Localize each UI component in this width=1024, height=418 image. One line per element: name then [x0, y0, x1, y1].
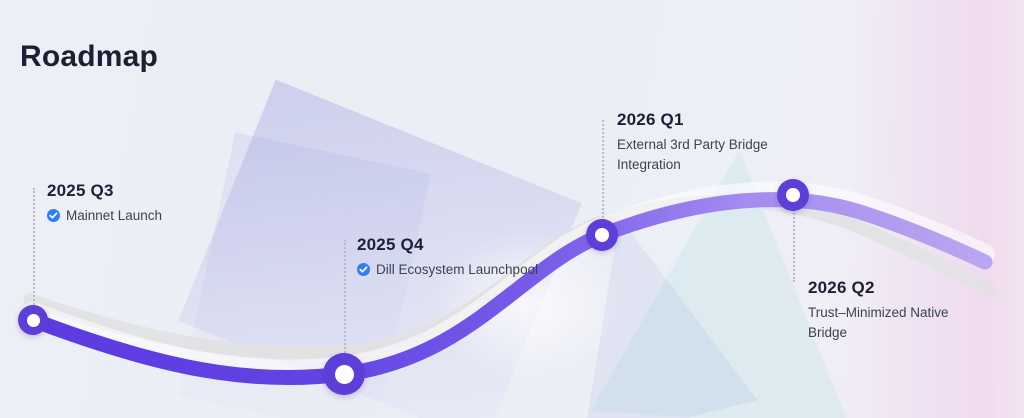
milestone-node-2026-q2[interactable] — [777, 179, 809, 211]
milestone-description: External 3rd Party Bridge Integration — [617, 135, 792, 174]
milestone-node-2025-q4[interactable] — [323, 353, 365, 395]
check-icon — [47, 209, 60, 222]
milestone-node-2025-q3[interactable] — [18, 305, 48, 335]
milestone-description: Trust–Minimized Native Bridge — [808, 303, 983, 342]
milestone-description-row: Trust–Minimized Native Bridge — [808, 303, 983, 342]
connector-line-4 — [793, 210, 795, 282]
node-core — [27, 314, 40, 327]
milestone-node-2026-q1[interactable] — [586, 219, 618, 251]
milestone-description: Mainnet Launch — [66, 206, 162, 226]
milestone-quarter: 2025 Q4 — [357, 235, 538, 255]
milestone-description-row: Dill Ecosystem Launchpool — [357, 260, 538, 280]
milestone-quarter: 2026 Q1 — [617, 110, 792, 130]
milestone-description-row: Mainnet Launch — [47, 206, 162, 226]
connector-line-3 — [602, 120, 604, 222]
milestone-description-row: External 3rd Party Bridge Integration — [617, 135, 792, 174]
milestone-quarter: 2025 Q3 — [47, 181, 162, 201]
check-icon — [357, 263, 370, 276]
roadmap-canvas: Roadmap — [0, 0, 1024, 418]
milestone-label-2026-q2: 2026 Q2 Trust–Minimized Native Bridge — [808, 278, 983, 342]
milestone-label-2025-q3: 2025 Q3 Mainnet Launch — [47, 181, 162, 226]
node-core — [595, 228, 609, 242]
node-core — [786, 188, 800, 202]
milestone-description: Dill Ecosystem Launchpool — [376, 260, 538, 280]
connector-line-2 — [344, 240, 346, 360]
node-core — [335, 365, 354, 384]
milestone-quarter: 2026 Q2 — [808, 278, 983, 298]
milestone-label-2025-q4: 2025 Q4 Dill Ecosystem Launchpool — [357, 235, 538, 280]
milestone-label-2026-q1: 2026 Q1 External 3rd Party Bridge Integr… — [617, 110, 792, 174]
connector-line-1 — [33, 188, 35, 308]
